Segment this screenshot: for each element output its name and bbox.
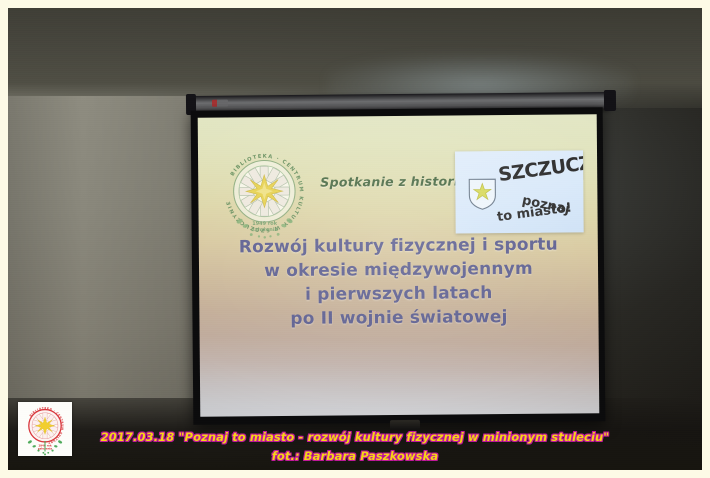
- title-line-2: w okresie międzywojennym: [199, 256, 598, 284]
- watermark-logo-icon: BIBLIOTEKA · CENTRUM KULTURY 1949 rok za…: [18, 402, 72, 456]
- svg-text:1949 rok: 1949 rok: [252, 221, 278, 227]
- projection-screen-frame: BIBLIOTEKA · CENTRUM KULTURY W SZCZUCZYN…: [191, 107, 606, 425]
- roller-bracket-right: [604, 90, 616, 111]
- title-line-4: po II wojnie światowej: [199, 305, 598, 333]
- svg-text:założenia: założenia: [251, 227, 278, 233]
- title-line-1: Rozwój kultury fizycznej i sportu: [199, 232, 598, 260]
- photo-caption: 2017.03.18 "Poznaj to miasto - rozwój ku…: [8, 428, 702, 466]
- slide-subtitle: Spotkanie z historią: [320, 173, 467, 189]
- slide-header: BIBLIOTEKA · CENTRUM KULTURY W SZCZUCZYN…: [198, 128, 598, 231]
- caption-line-2: fot.: Barbara Paszkowska: [8, 447, 702, 466]
- slide-title: Rozwój kultury fizycznej i sportu w okre…: [199, 232, 599, 332]
- title-line-3: i pierwszych latach: [199, 281, 598, 309]
- projection-screen-surface: BIBLIOTEKA · CENTRUM KULTURY W SZCZUCZYN…: [198, 114, 600, 416]
- photo-frame: BIBLIOTEKA · CENTRUM KULTURY W SZCZUCZYN…: [0, 0, 710, 478]
- roller-brand-logo: [212, 100, 228, 107]
- szczuczyn-city-badge: SZCZUCZYN poznaj to miasto!: [455, 150, 584, 233]
- svg-text:SZCZUCZYN: SZCZUCZYN: [497, 150, 584, 186]
- caption-line-1: 2017.03.18 "Poznaj to miasto - rozwój ku…: [8, 428, 702, 447]
- photograph: BIBLIOTEKA · CENTRUM KULTURY W SZCZUCZYN…: [8, 8, 702, 470]
- library-culture-center-logo-icon: BIBLIOTEKA · CENTRUM KULTURY W SZCZUCZYN…: [216, 145, 313, 242]
